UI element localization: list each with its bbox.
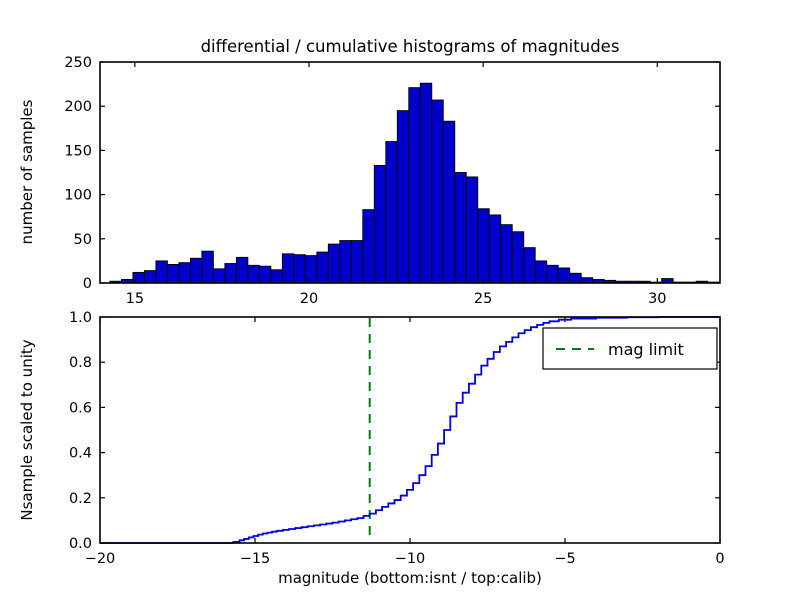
legend-label-mag-limit: mag limit xyxy=(608,340,684,359)
bottom-y-tick-label: 0.4 xyxy=(69,446,92,462)
top-y-tick-label: 0 xyxy=(83,276,92,292)
histogram-bar xyxy=(351,241,362,283)
histogram-bar xyxy=(501,225,512,283)
top-x-tick-label: 25 xyxy=(474,291,492,307)
bottom-y-tick-label: 0.6 xyxy=(69,400,92,416)
bottom-y-axis-label: Nsample scaled to unity xyxy=(18,339,36,520)
histogram-bar xyxy=(535,261,546,283)
top-y-tick-label: 50 xyxy=(74,232,92,248)
histogram-bar xyxy=(432,100,443,283)
matplotlib-figure: 15202530050100150200250 number of sample… xyxy=(0,0,800,600)
bottom-y-tick-label: 1.0 xyxy=(69,310,92,326)
histogram-bar xyxy=(202,251,213,283)
top-x-tick-label: 30 xyxy=(648,291,666,307)
figure-canvas: 15202530050100150200250 number of sample… xyxy=(0,0,800,600)
top-y-axis-label: number of samples xyxy=(18,99,36,244)
histogram-bar xyxy=(374,165,385,283)
histogram-bar xyxy=(558,268,569,283)
top-y-tick-label: 150 xyxy=(64,143,92,159)
top-x-tick-label: 20 xyxy=(300,291,318,307)
bottom-y-tick-label: 0.8 xyxy=(69,355,92,371)
histogram-bar xyxy=(167,264,178,283)
histogram-bar xyxy=(443,121,454,283)
top-y-tick-label: 250 xyxy=(64,55,92,71)
bottom-y-tick-label: 0.0 xyxy=(69,536,92,552)
histogram-bar xyxy=(570,273,581,283)
top-y-tick-label: 100 xyxy=(64,188,92,204)
histogram-bar xyxy=(190,258,201,283)
histogram-bar xyxy=(213,269,224,283)
histogram-bar xyxy=(512,232,523,283)
histogram-bar xyxy=(282,254,293,283)
bottom-y-tick-label: 0.2 xyxy=(69,491,92,507)
histogram-bar xyxy=(478,209,489,283)
bottom-x-tick-label: −10 xyxy=(395,551,426,567)
page-title: differential / cumulative histograms of … xyxy=(201,37,620,56)
histogram-bar xyxy=(455,173,466,284)
legend[interactable]: mag limit xyxy=(543,328,717,369)
histogram-bar xyxy=(317,252,328,283)
top-x-tick-label: 15 xyxy=(126,291,144,307)
histogram-bar xyxy=(466,177,477,283)
histogram-bar xyxy=(305,256,316,283)
bottom-x-tick-label: −15 xyxy=(240,551,271,567)
top-axes: 15202530050100150200250 number of sample… xyxy=(18,37,720,307)
histogram-bar xyxy=(340,241,351,283)
bottom-x-tick-label: 0 xyxy=(715,551,724,567)
histogram-bar xyxy=(547,265,558,283)
histogram-bar xyxy=(248,265,259,283)
histogram-bar xyxy=(271,270,282,283)
x-axis-label: magnitude (bottom:isnt / top:calib) xyxy=(278,569,542,587)
histogram-bar xyxy=(328,244,339,283)
bottom-x-tick-label: −20 xyxy=(85,551,116,567)
histogram-bar xyxy=(156,261,167,283)
histogram-bar xyxy=(489,215,500,283)
histogram-bar xyxy=(386,142,397,283)
histogram-bar xyxy=(524,248,535,283)
top-y-tick-label: 200 xyxy=(64,99,92,115)
histogram-bar xyxy=(420,83,431,283)
histogram-bar xyxy=(363,210,374,283)
bottom-axes: −20−15−10−500.00.20.40.60.81.0 Nsample s… xyxy=(18,310,725,587)
histogram-bar xyxy=(225,264,236,283)
histogram-bar xyxy=(179,263,190,283)
bottom-x-tick-label: −5 xyxy=(554,551,575,567)
histogram-bar xyxy=(294,255,305,283)
histogram-bar xyxy=(409,88,420,283)
histogram-bar xyxy=(144,271,155,283)
histogram-bar xyxy=(259,266,270,283)
histogram-bar xyxy=(236,257,247,283)
histogram-bar xyxy=(397,111,408,283)
